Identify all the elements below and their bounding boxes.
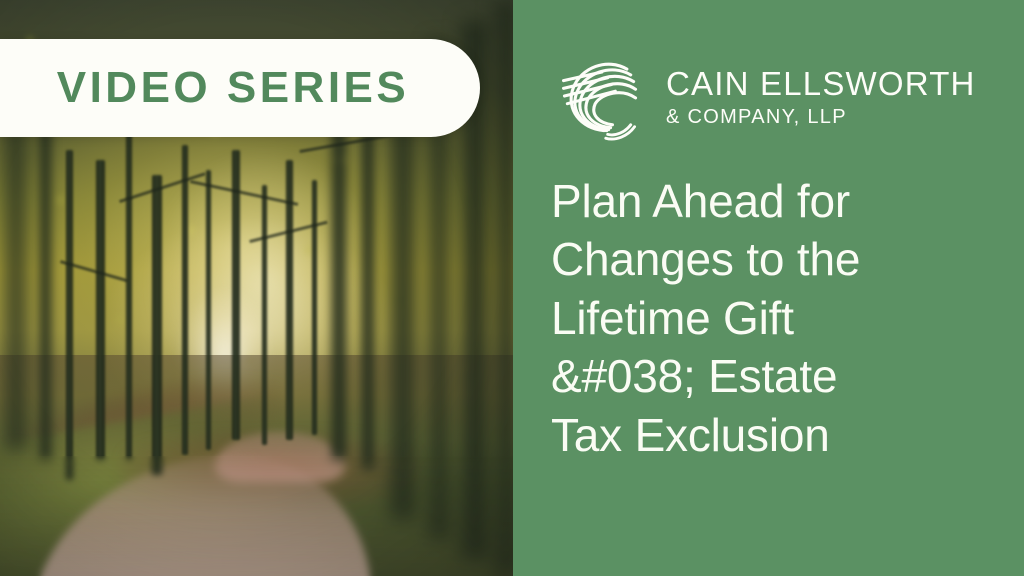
title-panel: CAIN ELLSWORTH & COMPANY, LLP Plan Ahead… [513, 0, 1024, 576]
brand-name-primary: CAIN ELLSWORTH [666, 66, 976, 102]
video-series-label: VIDEO SERIES [57, 66, 424, 110]
forest-photo: VIDEO SERIES [0, 0, 513, 576]
brand-lockup: CAIN ELLSWORTH & COMPANY, LLP [552, 48, 976, 144]
page-title: Plan Ahead for Changes to the Lifetime G… [551, 172, 981, 464]
video-thumbnail-canvas: VIDEO SERIES [0, 0, 1024, 576]
video-series-badge: VIDEO SERIES [0, 39, 480, 137]
brand-name-secondary: & COMPANY, LLP [666, 105, 976, 130]
cain-ellsworth-logo-icon [552, 48, 648, 144]
brand-wordmark: CAIN ELLSWORTH & COMPANY, LLP [666, 62, 976, 130]
